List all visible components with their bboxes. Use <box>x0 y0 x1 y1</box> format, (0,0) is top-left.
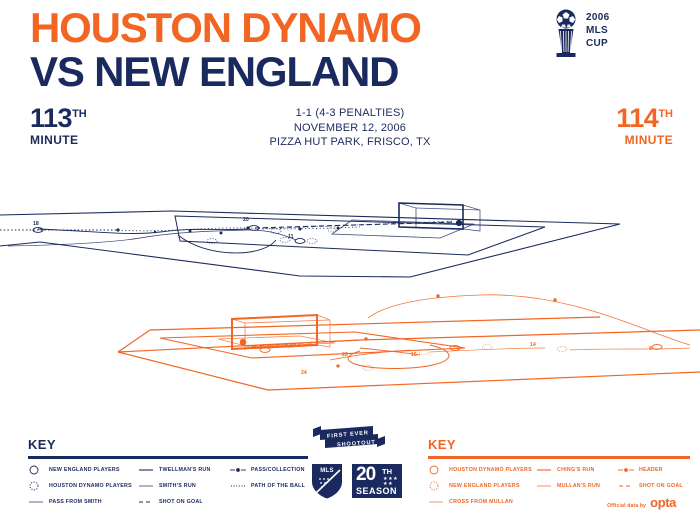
key-left-column-2: TWELLMAN'S RUN SMITH'S RUN SHOT ON GOAL <box>138 465 230 507</box>
key-item: SHOT ON GOAL <box>618 481 683 491</box>
header-icon <box>618 465 635 475</box>
player-number: 18 <box>33 221 39 227</box>
key-left: KEY NEW ENGLAND PLAYERS HOUSTON DYNAMO P… <box>28 437 308 507</box>
key-item-label: SHOT ON GOAL <box>159 499 203 505</box>
infographic-root: HOUSTON DYNAMO VS NEW ENGLAND 2006 MLS C… <box>0 0 700 521</box>
key-left-column-1: NEW ENGLAND PLAYERS HOUSTON DYNAMO PLAYE… <box>28 465 138 507</box>
key-item: PATH OF THE BALL <box>230 481 305 491</box>
key-item-label: HOUSTON DYNAMO PLAYERS <box>49 483 132 489</box>
circle-outline-icon <box>28 465 45 475</box>
key-item-label: CHING'S RUN <box>557 467 595 473</box>
key-item: MULLAN'S RUN <box>536 481 618 491</box>
line-solid-thin-icon <box>536 481 553 491</box>
match-date: NOVEMBER 12, 2006 <box>0 121 700 136</box>
circle-outline-icon <box>428 465 445 475</box>
key-item: CROSS FROM MULLAN <box>428 497 536 507</box>
ribbon-icon <box>307 425 391 453</box>
player-number: 14 <box>530 342 536 348</box>
key-item-label: TWELLMAN'S RUN <box>159 467 211 473</box>
line-dashed-icon <box>618 481 635 491</box>
cup-league: MLS <box>586 24 609 37</box>
season-number: 20 <box>356 466 375 483</box>
trophy-icon <box>548 8 584 58</box>
mls-shield-text: MLS <box>310 468 344 474</box>
key-item-label: PASS FROM SMITH <box>49 499 102 505</box>
key-right-column-1: HOUSTON DYNAMO PLAYERS NEW ENGLAND PLAYE… <box>428 465 536 507</box>
navy-pitch <box>0 203 620 277</box>
key-item-label: SMITH'S RUN <box>159 483 196 489</box>
page-title: HOUSTON DYNAMO VS NEW ENGLAND <box>30 8 421 93</box>
key-item: PASS/COLLECTION <box>230 465 305 475</box>
match-score: 1-1 (4-3 PENALTIES) <box>0 106 700 121</box>
key-item-label: MULLAN'S RUN <box>557 483 600 489</box>
key-item: HEADER <box>618 465 683 475</box>
opta-logo: opta <box>650 495 676 510</box>
key-item: PASS FROM SMITH <box>28 497 138 507</box>
key-item: NEW ENGLAND PLAYERS <box>428 481 536 491</box>
circle-dotted-icon <box>28 481 45 491</box>
key-right-rule <box>428 456 690 459</box>
20th-season-badge: 20 TH ★★★★★ SEASON <box>352 464 402 498</box>
key-item-label: HOUSTON DYNAMO PLAYERS <box>449 467 532 473</box>
key-item-label: HEADER <box>639 467 663 473</box>
circle-dotted-icon <box>428 481 445 491</box>
orange-pitch <box>118 294 700 390</box>
player-number: 24 <box>301 370 307 376</box>
season-word: SEASON <box>356 486 397 496</box>
season-ordinal: TH <box>382 467 392 476</box>
title-line-home: HOUSTON DYNAMO <box>30 8 421 48</box>
key-left-column-3: PASS/COLLECTION PATH OF THE BALL <box>230 465 305 507</box>
key-item-label: NEW ENGLAND PLAYERS <box>449 483 520 489</box>
mls-shield-logo: MLS <box>310 462 344 500</box>
line-solid-icon <box>536 465 553 475</box>
key-right-column-2: CHING'S RUN MULLAN'S RUN <box>536 465 618 507</box>
player-number: 11 <box>288 234 293 240</box>
line-dashed-icon <box>138 497 155 507</box>
line-solid-thin-icon <box>28 497 45 507</box>
key-item-label: PASS/COLLECTION <box>251 467 305 473</box>
key-right-title: KEY <box>428 437 690 452</box>
key-item-label: CROSS FROM MULLAN <box>449 499 513 505</box>
line-solid-thin-icon <box>428 497 445 507</box>
mls-cup-logo: 2006 MLS CUP <box>548 8 634 60</box>
pass-collection-icon <box>230 465 247 475</box>
cup-year: 2006 <box>586 11 609 24</box>
key-item-label: SHOT ON GOAL <box>639 483 683 489</box>
title-line-away: VS NEW ENGLAND <box>30 51 421 93</box>
key-item: NEW ENGLAND PLAYERS <box>28 465 138 475</box>
key-item: CHING'S RUN <box>536 465 618 475</box>
opta-credit: Official data by opta <box>607 495 676 510</box>
player-number: 16 <box>411 352 417 358</box>
first-ever-shootout-ribbon: FIRST EVER SHOOTOUT <box>307 425 391 453</box>
match-info: 1-1 (4-3 PENALTIES) NOVEMBER 12, 2006 PI… <box>0 106 700 150</box>
key-item: TWELLMAN'S RUN <box>138 465 230 475</box>
key-item-label: PATH OF THE BALL <box>251 483 305 489</box>
player-number: 20 <box>243 217 249 223</box>
key-item-label: NEW ENGLAND PLAYERS <box>49 467 120 473</box>
key-item: SHOT ON GOAL <box>138 497 230 507</box>
key-item: HOUSTON DYNAMO PLAYERS <box>28 481 138 491</box>
key-left-rule <box>28 456 308 459</box>
line-solid-icon <box>138 465 155 475</box>
player-number: 26 <box>342 352 348 358</box>
match-venue: PIZZA HUT PARK, FRISCO, TX <box>0 135 700 150</box>
cup-logo-text: 2006 MLS CUP <box>586 11 609 50</box>
key-left-title: KEY <box>28 437 308 452</box>
line-dotted-icon <box>230 481 247 491</box>
key-item: HOUSTON DYNAMO PLAYERS <box>428 465 536 475</box>
line-solid-thin-icon <box>138 481 155 491</box>
player-number: 9 <box>649 346 652 352</box>
cup-competition: CUP <box>586 37 609 50</box>
credit-prefix: Official data by <box>607 503 646 509</box>
key-item: SMITH'S RUN <box>138 481 230 491</box>
